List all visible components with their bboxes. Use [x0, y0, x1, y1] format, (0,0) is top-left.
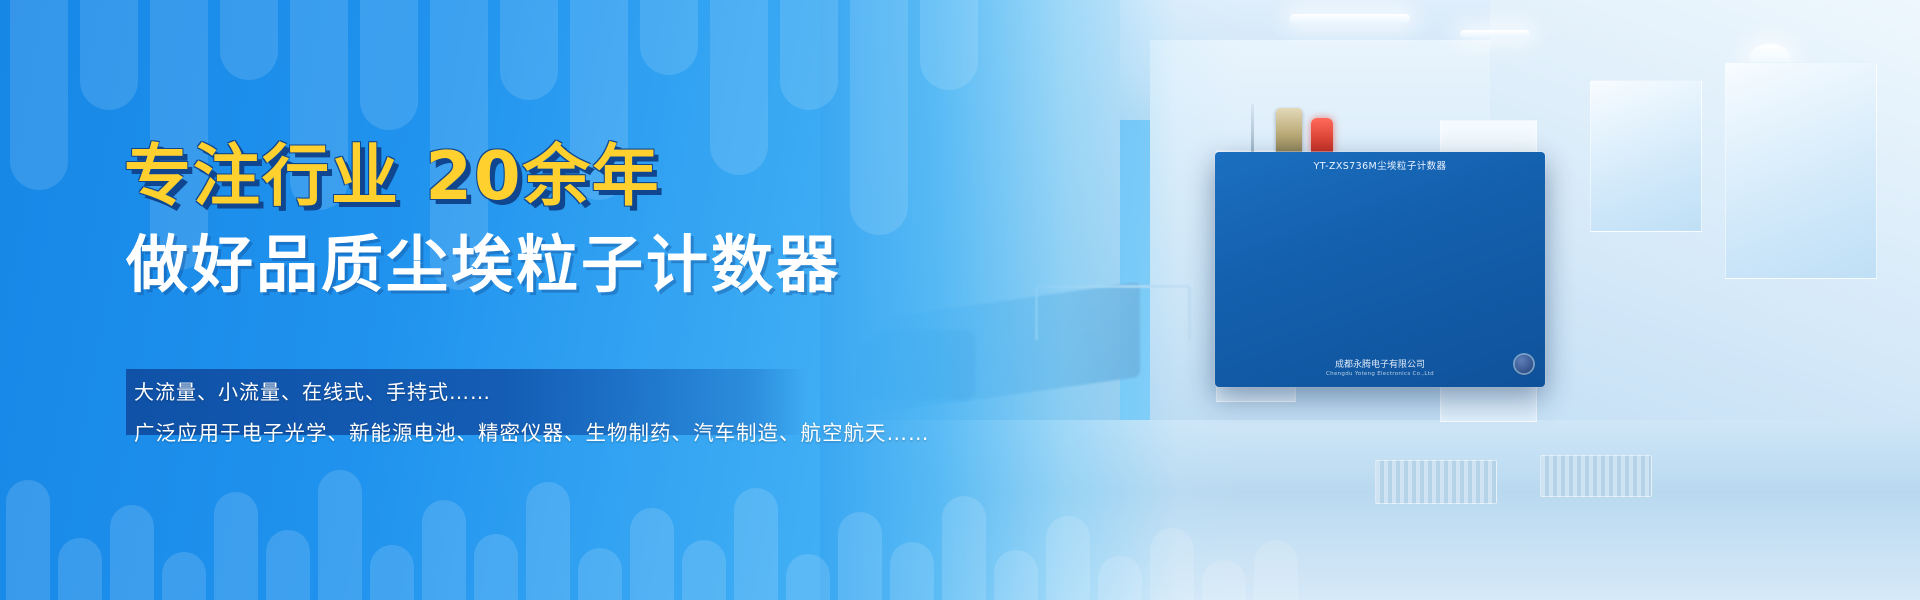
product-banner: 专注行业 20余年 做好品质尘埃粒子计数器 大流量、小流量、在线式、手持式…… …	[0, 0, 1920, 600]
headline-primary: 专注行业 20余年	[124, 122, 661, 219]
brand-name-en: Chengdu Yoteng Electronics Co.,Ltd	[1215, 371, 1545, 377]
device-alarm-beacon	[1311, 118, 1333, 154]
subtitle-line-2: 广泛应用于电子光学、新能源电池、精密仪器、生物制药、汽车制造、航空航天……	[134, 416, 930, 446]
ceiling-light	[1460, 30, 1530, 37]
device-brand: 成都永腾电子有限公司 Chengdu Yoteng Electronics Co…	[1215, 357, 1545, 377]
headline-secondary: 做好品质尘埃粒子计数器	[126, 214, 841, 304]
device-power-button[interactable]	[1515, 355, 1533, 373]
device-sensor-probe	[1276, 108, 1302, 154]
device-antenna	[1251, 104, 1254, 154]
subtitle-line-1: 大流量、小流量、在线式、手持式……	[134, 376, 491, 405]
corridor-window	[1725, 62, 1877, 279]
corridor-window	[1590, 80, 1702, 232]
particle-counter-device: YT-ZXS736M尘埃粒子计数器 20 ℃ 50 % 2020-03-14 2…	[1215, 152, 1545, 387]
ceiling-light	[1290, 14, 1410, 23]
brand-name-cn: 成都永腾电子有限公司	[1335, 360, 1425, 370]
device-model-label: YT-ZXS736M尘埃粒子计数器	[1215, 158, 1545, 172]
